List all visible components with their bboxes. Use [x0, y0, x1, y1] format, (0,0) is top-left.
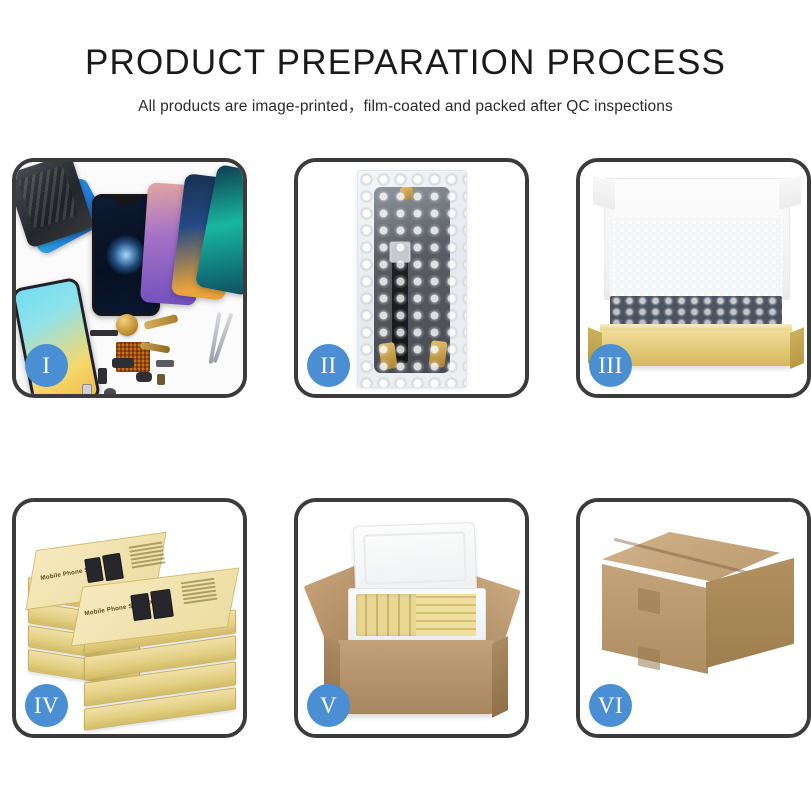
foam-sheet-icon [610, 218, 782, 296]
phone-notch-icon [114, 197, 138, 204]
connector-icon [389, 241, 411, 263]
page-subtitle: All products are image-printed，film-coat… [0, 94, 811, 116]
packed-boxes-icon [416, 594, 476, 636]
process-step-2[interactable]: II [294, 158, 529, 398]
process-step-1[interactable]: I [12, 158, 247, 398]
process-step-5[interactable]: V [294, 498, 529, 738]
step-badge-1: I [25, 344, 68, 387]
speaker-module-icon [116, 314, 138, 336]
box-artwork-screen [102, 553, 124, 581]
small-part-icon [136, 372, 152, 382]
step-badge-6: VI [589, 684, 632, 727]
process-step-grid: I II [12, 158, 801, 738]
foam-lid-icon [353, 522, 477, 596]
step-badge-3: III [589, 344, 632, 387]
carton-tape-icon [638, 588, 660, 615]
gold-contact-icon [378, 342, 397, 370]
small-part-icon [156, 360, 174, 367]
gold-contact-icon [428, 340, 447, 368]
process-step-4[interactable]: Mobile Phone Spare Parts Mobile Phone Sp… [12, 498, 247, 738]
product-preparation-infographic: PRODUCT PREPARATION PROCESS All products… [0, 0, 811, 811]
tweezers-icon [197, 312, 241, 370]
bubble-wrap-bag-icon [357, 170, 467, 388]
carton-tape-icon [638, 646, 660, 671]
small-part-icon [104, 388, 116, 394]
carton-front-icon [338, 640, 494, 714]
flex-cable-icon [144, 314, 179, 330]
small-part-icon [82, 384, 92, 394]
process-step-6[interactable]: VI [576, 498, 811, 738]
small-part-icon [90, 330, 118, 336]
step-badge-2: II [307, 344, 350, 387]
phone-back-housing-icon [16, 162, 94, 249]
small-part-icon [98, 368, 107, 384]
box-artwork-screen [130, 593, 151, 621]
box-artwork-screen [150, 589, 174, 620]
process-step-3[interactable]: III [576, 158, 811, 398]
small-part-icon [112, 358, 134, 368]
gold-contact-icon [400, 187, 413, 200]
step-badge-4: IV [25, 684, 68, 727]
small-part-icon [157, 374, 165, 385]
page-title: PRODUCT PREPARATION PROCESS [0, 44, 811, 83]
step-badge-5: V [307, 684, 350, 727]
header: PRODUCT PREPARATION PROCESS All products… [0, 0, 811, 116]
